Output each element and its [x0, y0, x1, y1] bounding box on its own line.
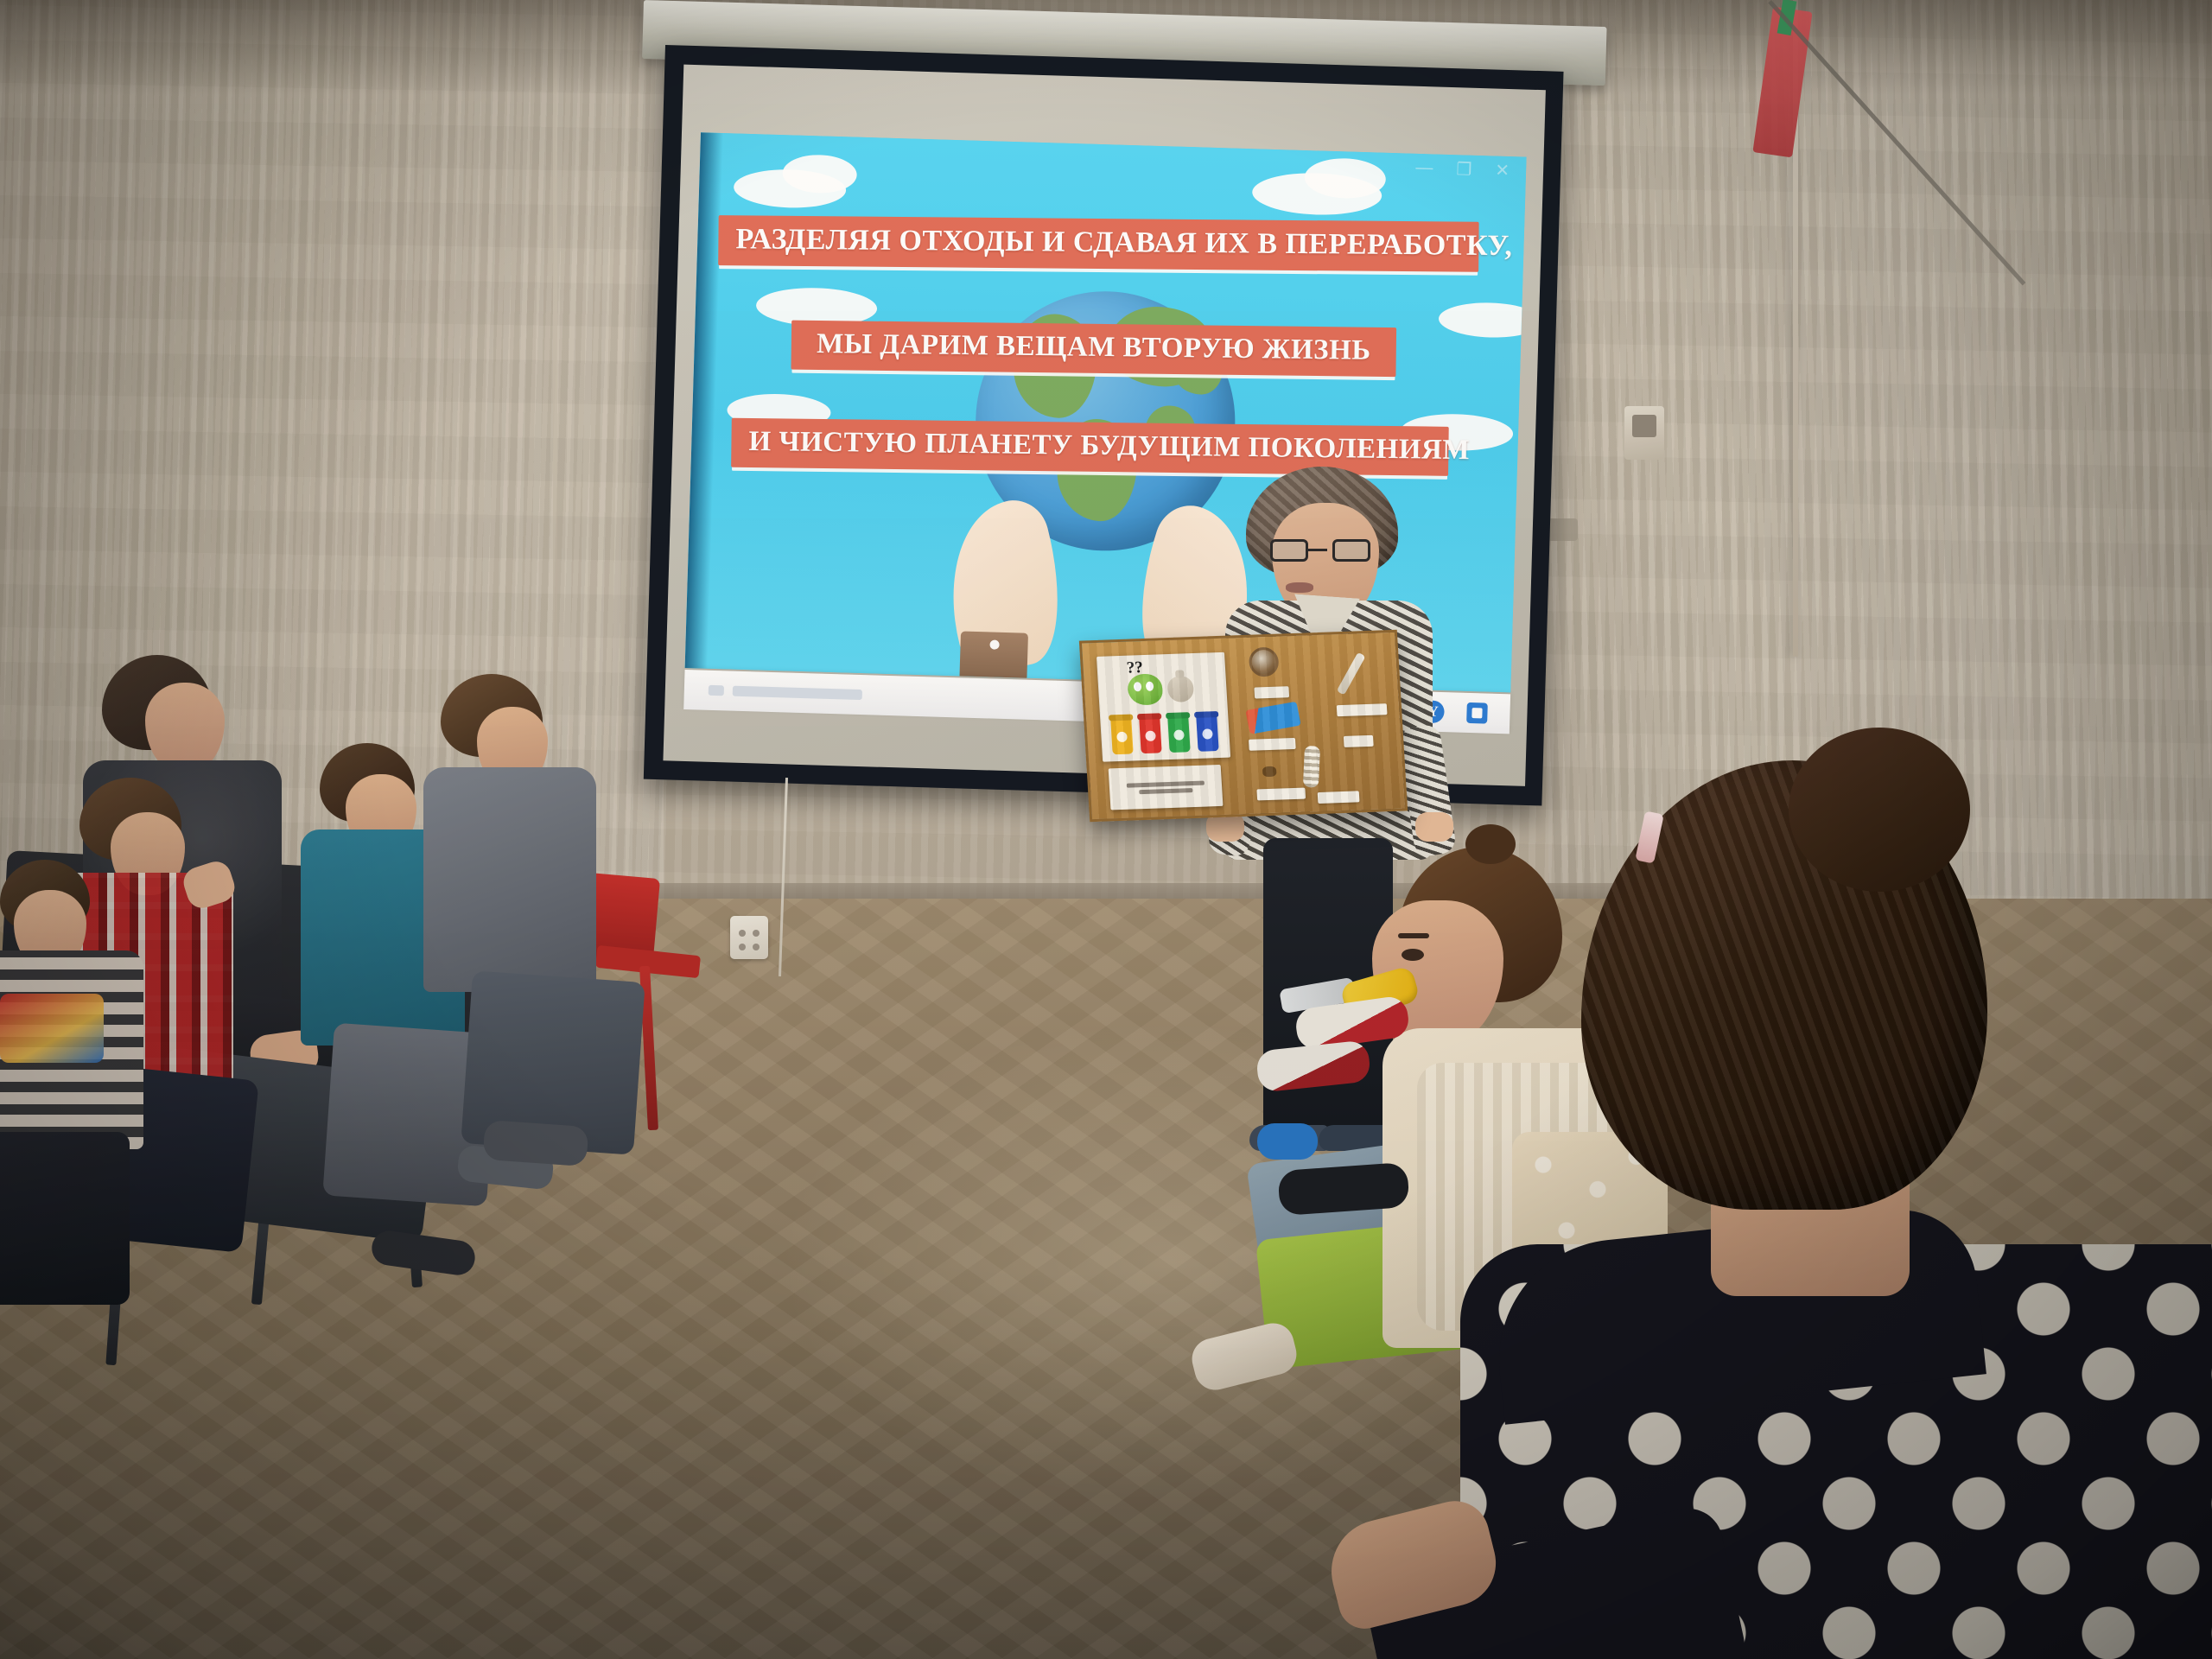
bin-green-icon — [1167, 715, 1190, 753]
gray-hoodie — [423, 767, 596, 992]
plastic-spoon-sample — [1337, 652, 1366, 696]
glasses-icon — [1270, 539, 1376, 562]
blue-app-icon[interactable] — [1466, 702, 1488, 724]
light-switch-box[interactable] — [1624, 406, 1664, 460]
recycling-info-sheet: ?? — [1096, 652, 1230, 762]
maximize-icon[interactable]: ❐ — [1456, 158, 1473, 181]
presenter-right-hand — [1415, 812, 1453, 842]
taskbar-left-cluster — [684, 684, 1032, 705]
room-scene: — ❐ ✕ РАЗДЕЛЯЯ ОТХОДЫ И СДАВАЯ ИХ В ПЕРЕ… — [0, 0, 2212, 1659]
slide-line-2: МЫ ДАРИМ ВЕЩАМ ВТОРУЮ ЖИЗНЬ — [791, 321, 1396, 378]
left-sleeve-cuff — [959, 631, 1028, 681]
caption-line — [1127, 780, 1205, 787]
hair-bun — [1465, 824, 1516, 864]
bin-blue-icon — [1196, 715, 1218, 752]
sample-label — [1318, 791, 1360, 804]
eyebrow — [1398, 933, 1429, 938]
bin-red-icon — [1139, 716, 1161, 753]
hair-bun — [1789, 728, 1970, 892]
caption-line — [1139, 788, 1192, 794]
window-controls[interactable]: — ❐ ✕ — [1415, 157, 1510, 181]
face — [145, 683, 225, 772]
shoe — [483, 1120, 589, 1166]
trash-bag-icon — [1166, 676, 1194, 702]
question-marks-label: ?? — [1126, 658, 1143, 678]
sample-label — [1337, 703, 1388, 716]
poster-caption — [1109, 765, 1224, 810]
sample-label — [1254, 686, 1289, 698]
hoodie-print — [467, 812, 562, 864]
slide-line-1: РАЗДЕЛЯЯ ОТХОДЫ И СДАВАЯ ИХ В ПЕРЕРАБОТК… — [718, 215, 1478, 272]
candy-wrapper-sample — [1245, 702, 1300, 734]
wall-hook — [1547, 518, 1578, 541]
eye — [1402, 949, 1424, 961]
recycling-bins-row — [1110, 715, 1218, 754]
waste-sample-area — [1243, 641, 1398, 807]
shirt-graphic — [0, 994, 104, 1063]
sample-label — [1344, 735, 1374, 747]
legs — [0, 1132, 130, 1305]
minimize-icon[interactable]: — — [1415, 158, 1434, 179]
close-icon[interactable]: ✕ — [1495, 160, 1510, 182]
green-blob-character-icon — [1127, 673, 1163, 705]
cardboard-display-board[interactable]: ?? — [1079, 630, 1408, 822]
coffee-cup-lid-sample — [1249, 647, 1280, 677]
blue-shoe — [1257, 1123, 1318, 1160]
dark-sneaker — [1277, 1162, 1409, 1216]
weather-icon[interactable] — [709, 685, 724, 696]
sample-label — [1249, 738, 1296, 751]
plastic-spring-sample — [1303, 746, 1320, 788]
weather-text — [733, 686, 862, 700]
small-debris-sample — [1262, 766, 1277, 778]
left-wall-corner — [553, 0, 557, 855]
audience-woman-polka-dot — [1529, 760, 2212, 1659]
presenter-mouth — [1286, 582, 1313, 593]
bin-yellow-icon — [1110, 718, 1133, 755]
sample-label — [1256, 788, 1306, 801]
power-outlet — [730, 916, 768, 959]
